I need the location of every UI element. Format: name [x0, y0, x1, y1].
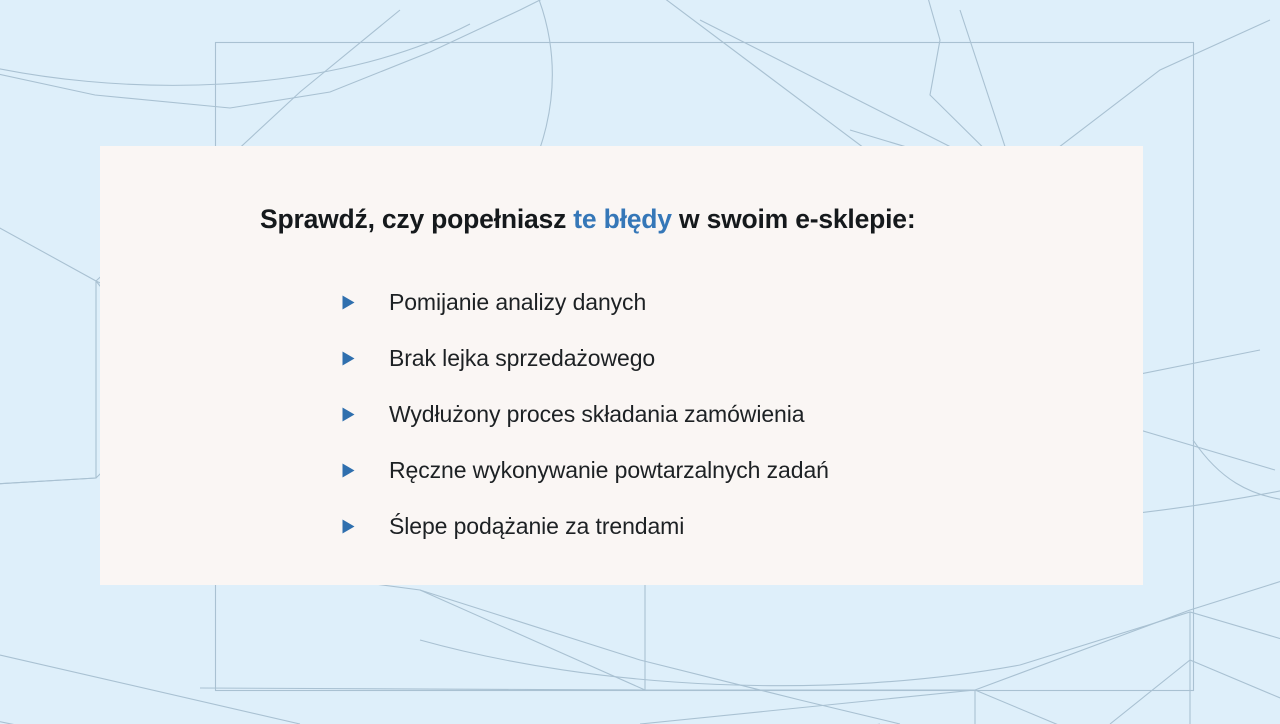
- list-item-label: Wydłużony proces składania zamówienia: [389, 403, 804, 426]
- triangle-right-icon: [342, 463, 355, 478]
- triangle-right-icon: [342, 407, 355, 422]
- list-item-label: Brak lejka sprzedażowego: [389, 347, 655, 370]
- triangle-right-icon: [342, 295, 355, 310]
- benefit-list: Pomijanie analizy danych Brak lejka sprz…: [342, 274, 829, 554]
- list-item: Ślepe podążanie za trendami: [342, 498, 829, 554]
- triangle-right-icon: [342, 519, 355, 534]
- headline-accent-text: te błędy: [573, 204, 672, 234]
- slide-root: { "theme": { "background_color": "#deeff…: [0, 0, 1280, 724]
- list-item: Ręczne wykonywanie powtarzalnych zadań: [342, 442, 829, 498]
- list-item: Wydłużony proces składania zamówienia: [342, 386, 829, 442]
- list-item: Brak lejka sprzedażowego: [342, 330, 829, 386]
- list-item-label: Pomijanie analizy danych: [389, 291, 646, 314]
- page-title: Sprawdź, czy popełniasz te błędy w swoim…: [260, 204, 915, 234]
- list-item-label: Ślepe podążanie za trendami: [389, 515, 684, 538]
- list-item: Pomijanie analizy danych: [342, 274, 829, 330]
- content-card: Sprawdź, czy popełniasz te błędy w swoim…: [100, 146, 1143, 585]
- headline-text-before: Sprawdź, czy popełniasz: [260, 204, 573, 234]
- triangle-right-icon: [342, 351, 355, 366]
- headline-text-after: w swoim e-sklepie:: [672, 204, 916, 234]
- list-item-label: Ręczne wykonywanie powtarzalnych zadań: [389, 459, 829, 482]
